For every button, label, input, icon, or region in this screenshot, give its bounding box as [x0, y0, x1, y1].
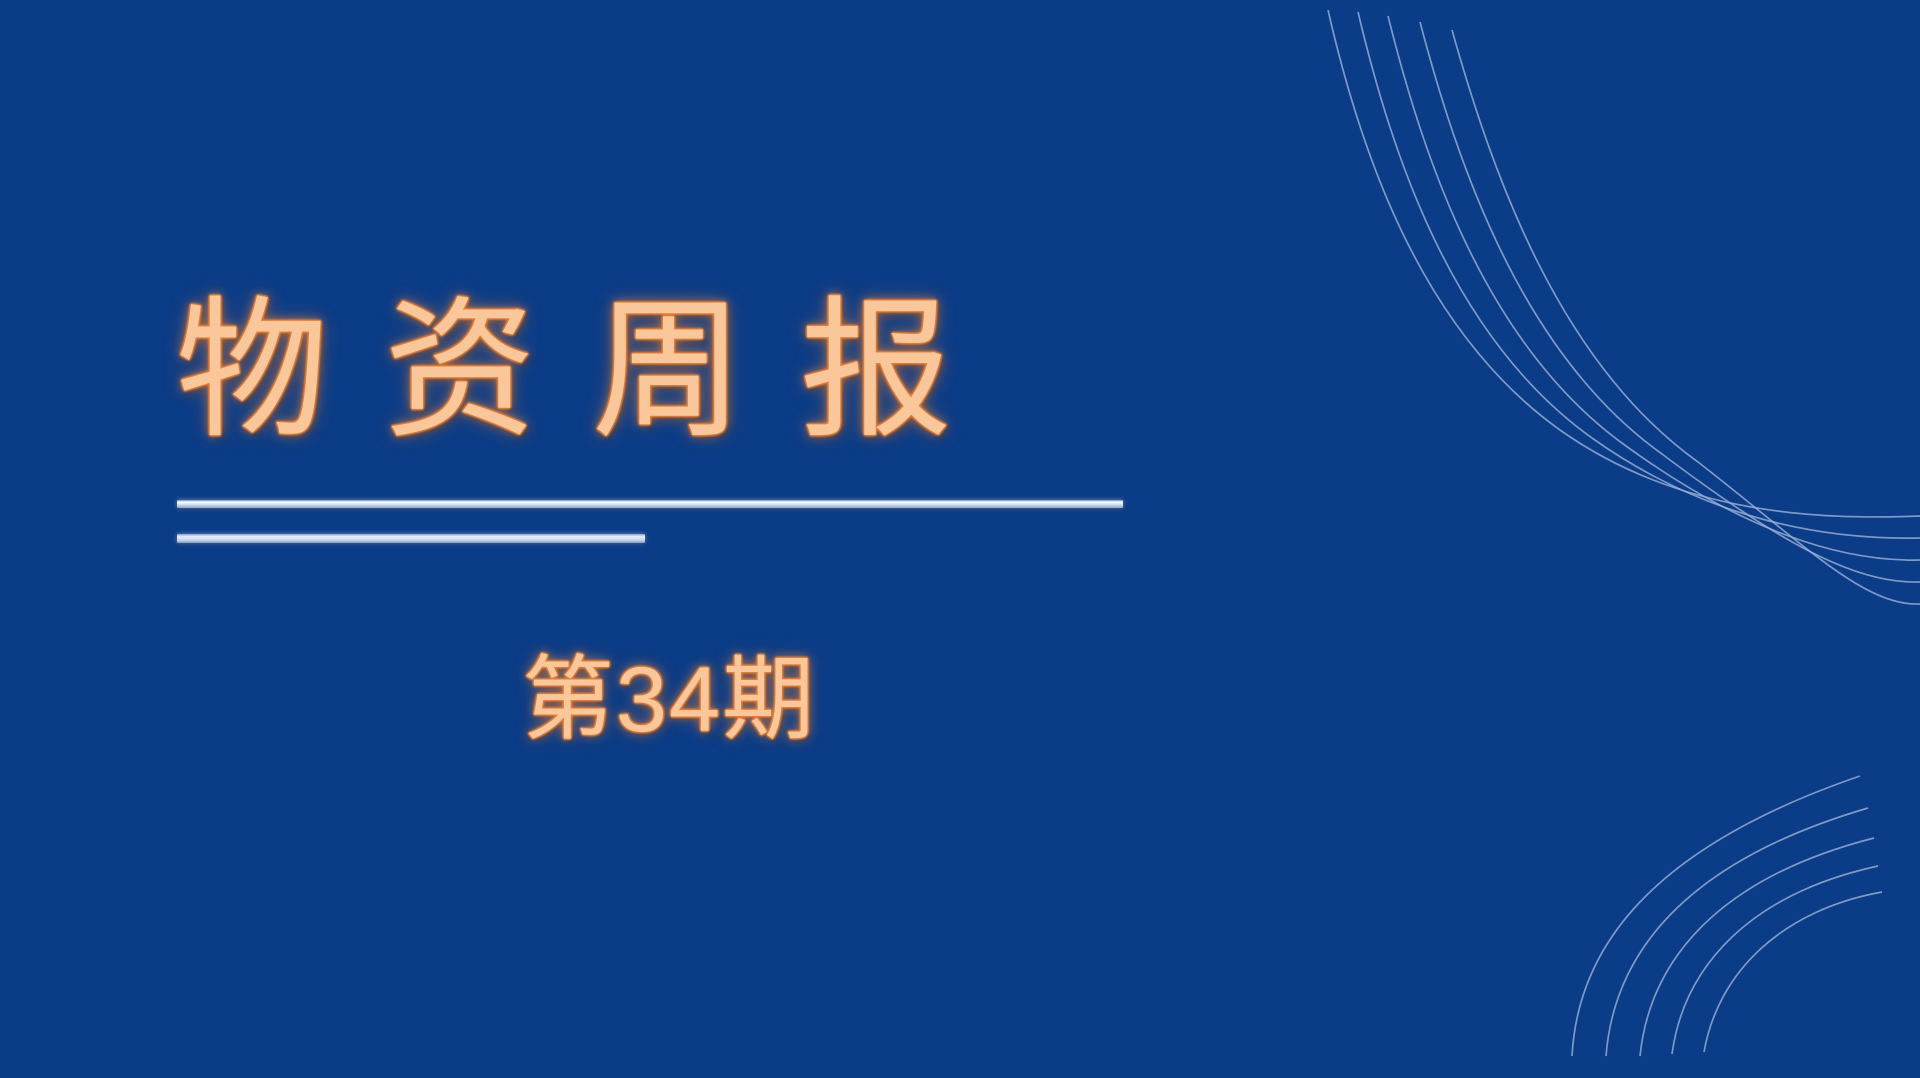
issue-subtitle: 第34期 [522, 648, 816, 754]
swoosh-curve-2 [1358, 12, 1920, 538]
title-block: 物资周报 [176, 286, 1376, 456]
swoosh-curve-5 [1452, 30, 1920, 604]
arc-curves-bottom-right [1500, 738, 1920, 1078]
subtitle-block: 第34期 [0, 648, 1338, 754]
arc-curve-4 [1672, 866, 1878, 1054]
swoosh-curves-top-right [1300, 0, 1920, 620]
swoosh-curve-1 [1328, 10, 1920, 517]
title-slide: 物资周报 第34期 [0, 0, 1920, 1078]
arc-curve-3 [1640, 838, 1874, 1056]
divider-short [177, 534, 645, 543]
arc-curve-5 [1704, 892, 1882, 1052]
page-title: 物资周报 [176, 286, 1376, 456]
divider-long [177, 500, 1123, 508]
swoosh-curve-4 [1420, 22, 1920, 582]
arc-curve-1 [1572, 776, 1860, 1056]
swoosh-curve-3 [1388, 16, 1920, 560]
arc-curve-2 [1606, 808, 1868, 1056]
